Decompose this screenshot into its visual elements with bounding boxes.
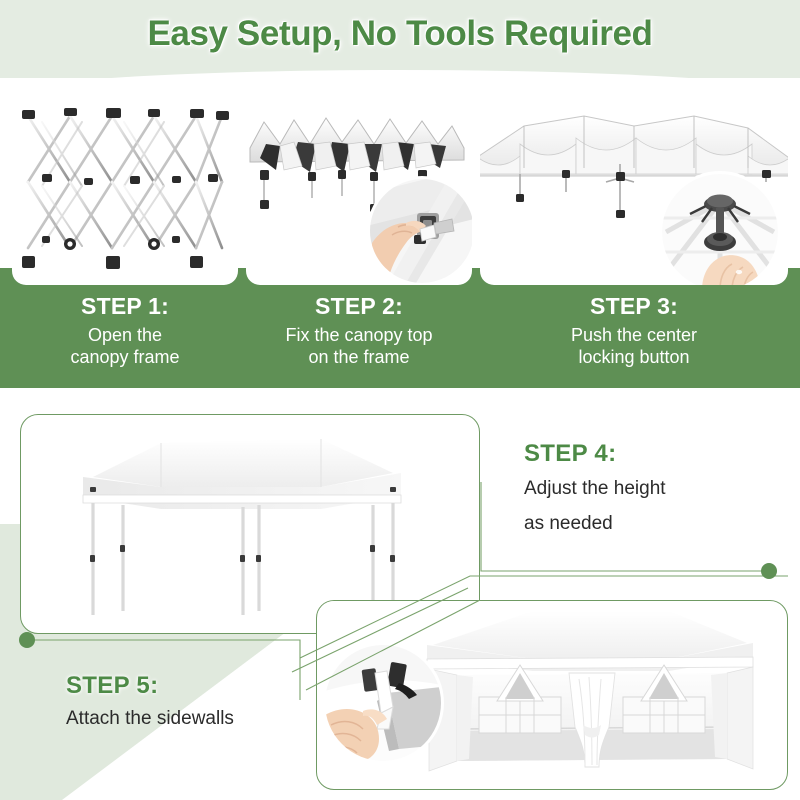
step-1-card bbox=[12, 86, 238, 285]
folded-canopy-frame-illustration bbox=[12, 86, 238, 285]
step-2-closeup-inset bbox=[370, 179, 472, 283]
step-4-line1: Adjust the height bbox=[524, 475, 774, 503]
step-2-caption: STEP 2: Fix the canopy top on the frame bbox=[246, 292, 472, 369]
step-2-card bbox=[246, 86, 472, 285]
step-4-line2: as needed bbox=[524, 510, 774, 538]
infographic-root: Easy Setup, No Tools Required bbox=[0, 0, 800, 800]
step-1-line1: Open the bbox=[12, 324, 238, 347]
page-title: Easy Setup, No Tools Required bbox=[0, 14, 800, 54]
step-3-caption: STEP 3: Push the center locking button bbox=[480, 292, 788, 369]
step-1-caption: STEP 1: Open the canopy frame bbox=[12, 292, 238, 369]
step-3-closeup-inset bbox=[662, 174, 778, 285]
step-2-heading: STEP 2: bbox=[246, 292, 472, 321]
step-2-line1: Fix the canopy top bbox=[246, 324, 472, 347]
step-1-heading: STEP 1: bbox=[12, 292, 238, 321]
step-5-heading: STEP 5: bbox=[66, 672, 356, 700]
step-4-heading: STEP 4: bbox=[524, 440, 774, 468]
step-3-line2: locking button bbox=[480, 346, 788, 369]
step-2-line2: on the frame bbox=[246, 346, 472, 369]
step-3-heading: STEP 3: bbox=[480, 292, 788, 321]
step-3-line1: Push the center bbox=[480, 324, 788, 347]
step-4-text-block: STEP 4: Adjust the height as needed bbox=[524, 440, 774, 537]
step-5-text-block: STEP 5: Attach the sidewalls bbox=[66, 672, 356, 730]
step-1-line2: canopy frame bbox=[12, 346, 238, 369]
step-5-card bbox=[316, 600, 788, 790]
step-3-card bbox=[480, 86, 788, 285]
step-5-line1: Attach the sidewalls bbox=[66, 708, 356, 730]
